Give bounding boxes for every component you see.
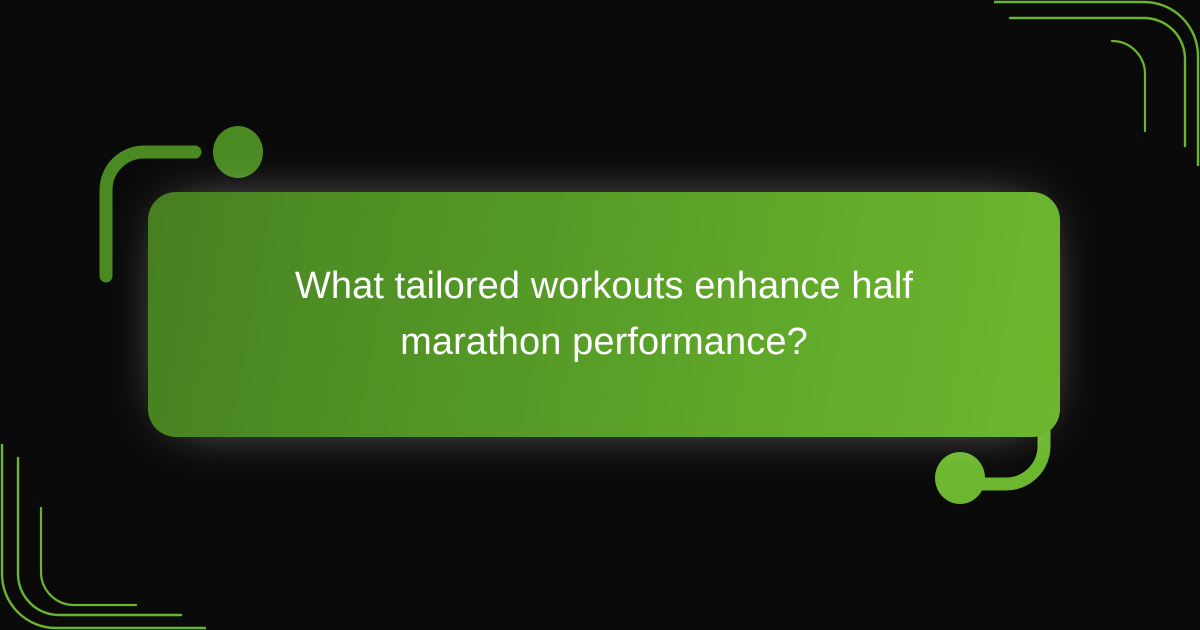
- dot-accent-top-left-icon: [213, 126, 263, 178]
- corner-lines-top-right-icon: [994, 0, 1200, 166]
- question-card: What tailored workouts enhance half mara…: [148, 192, 1060, 437]
- question-text: What tailored workouts enhance half mara…: [295, 259, 913, 369]
- corner-lines-bottom-left-icon: [0, 444, 206, 630]
- dot-accent-bottom-right-icon: [935, 452, 985, 504]
- question-card-canvas: What tailored workouts enhance half mara…: [0, 0, 1200, 630]
